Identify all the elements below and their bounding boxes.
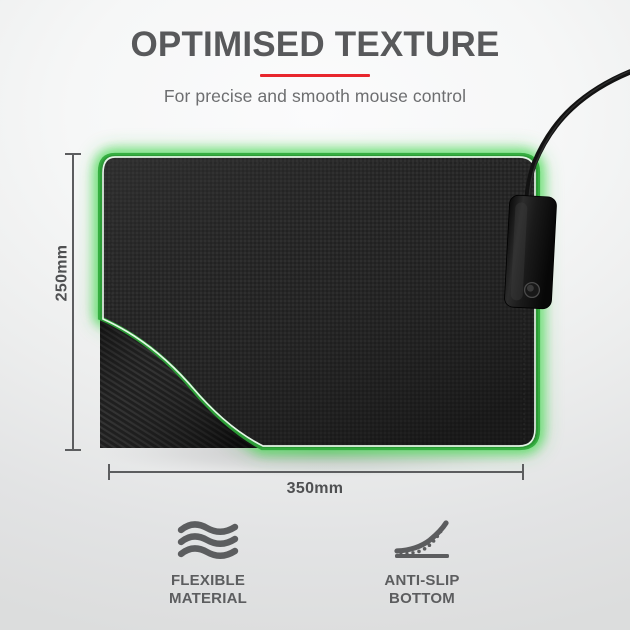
surface-line bbox=[395, 554, 449, 558]
rgb-glow-halo bbox=[100, 155, 538, 448]
dimension-line-horizontal bbox=[108, 471, 524, 473]
dimension-line-vertical bbox=[72, 153, 74, 451]
page-title: OPTIMISED TEXTURE bbox=[0, 0, 630, 64]
dimension-label-height: 250mm bbox=[53, 245, 71, 302]
dimension-cap-right bbox=[522, 464, 524, 480]
dimension-cap-left bbox=[108, 464, 110, 480]
dimension-cap-bottom bbox=[65, 449, 81, 451]
page-subtitle: For precise and smooth mouse control bbox=[0, 86, 630, 107]
curved-mat-grip-icon bbox=[391, 520, 453, 564]
feature-icon-wrapper bbox=[138, 518, 278, 566]
wavy-lines-icon bbox=[177, 520, 239, 564]
feature-flexible-material: FLEXIBLE MATERIAL bbox=[138, 518, 278, 609]
feature-label: ANTI-SLIP BOTTOM bbox=[352, 572, 492, 609]
rgb-light-strip bbox=[100, 155, 538, 448]
folded-corner-underside bbox=[96, 312, 266, 452]
feature-icon-wrapper bbox=[352, 518, 492, 566]
edge-stitching bbox=[112, 163, 524, 440]
rgb-mode-button-gloss bbox=[527, 285, 534, 292]
title-accent-rule bbox=[260, 74, 370, 77]
rgb-control-module[interactable] bbox=[504, 195, 557, 309]
feature-anti-slip-bottom: ANTI-SLIP BOTTOM bbox=[352, 518, 492, 609]
feature-list: FLEXIBLE MATERIAL bbox=[0, 518, 630, 609]
module-highlight bbox=[510, 202, 527, 300]
dimension-cap-top bbox=[65, 153, 81, 155]
dimension-label-width: 350mm bbox=[0, 480, 630, 498]
product-infographic: OPTIMISED TEXTURE For precise and smooth… bbox=[0, 0, 630, 630]
pad-top-surface bbox=[92, 148, 548, 460]
header: OPTIMISED TEXTURE For precise and smooth… bbox=[0, 0, 630, 107]
rgb-mode-button[interactable] bbox=[525, 283, 540, 298]
feature-label: FLEXIBLE MATERIAL bbox=[138, 572, 278, 609]
